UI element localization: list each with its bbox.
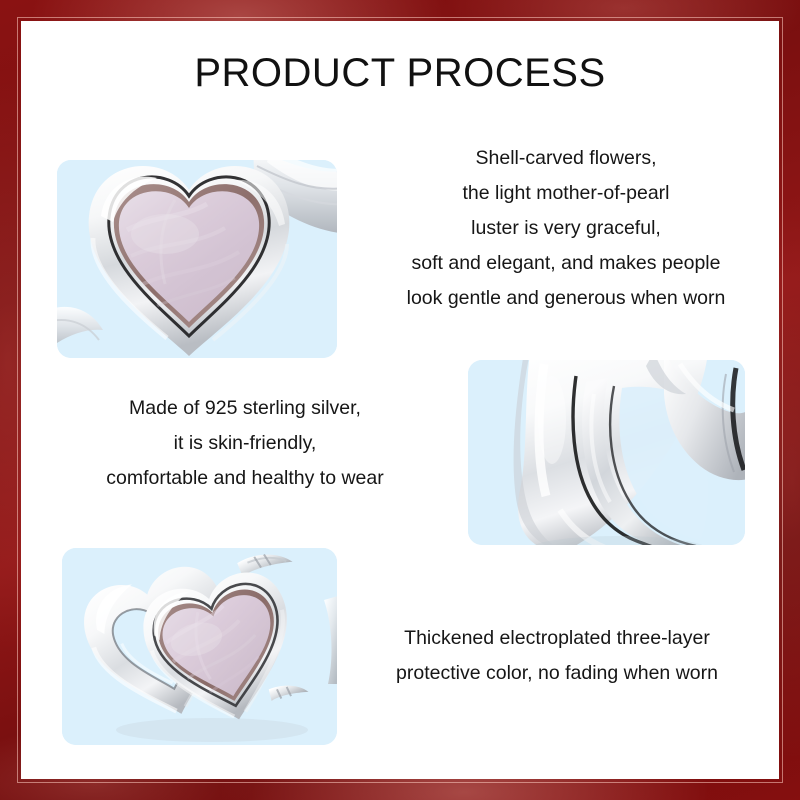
copy-block-shell: Shell-carved flowers, the light mother-o… (366, 141, 766, 316)
photo-silver-curves (468, 360, 745, 545)
copy-line: soft and elegant, and makes people (366, 246, 766, 281)
copy-line: Thickened electroplated three-layer (347, 621, 767, 656)
copy-line: Shell-carved flowers, (366, 141, 766, 176)
silver-curves-illustration (468, 360, 745, 545)
copy-line: look gentle and generous when worn (366, 281, 766, 316)
copy-line: it is skin-friendly, (45, 426, 445, 461)
photo-double-heart (62, 548, 337, 745)
copy-line: luster is very graceful, (366, 211, 766, 246)
photo-macro-heart-pendant (57, 160, 337, 358)
poster-root: PRODUCT PROCESS (0, 0, 800, 800)
white-content-card: PRODUCT PROCESS (21, 21, 779, 779)
macro-heart-illustration (57, 160, 337, 358)
page-title: PRODUCT PROCESS (21, 53, 779, 93)
copy-block-silver: Made of 925 sterling silver, it is skin-… (45, 391, 445, 496)
double-heart-illustration (62, 548, 337, 745)
copy-line: Made of 925 sterling silver, (45, 391, 445, 426)
copy-line: comfortable and healthy to wear (45, 461, 445, 496)
copy-line: the light mother-of-pearl (366, 176, 766, 211)
copy-block-plating: Thickened electroplated three-layer prot… (347, 621, 767, 691)
copy-line: protective color, no fading when worn (347, 656, 767, 691)
